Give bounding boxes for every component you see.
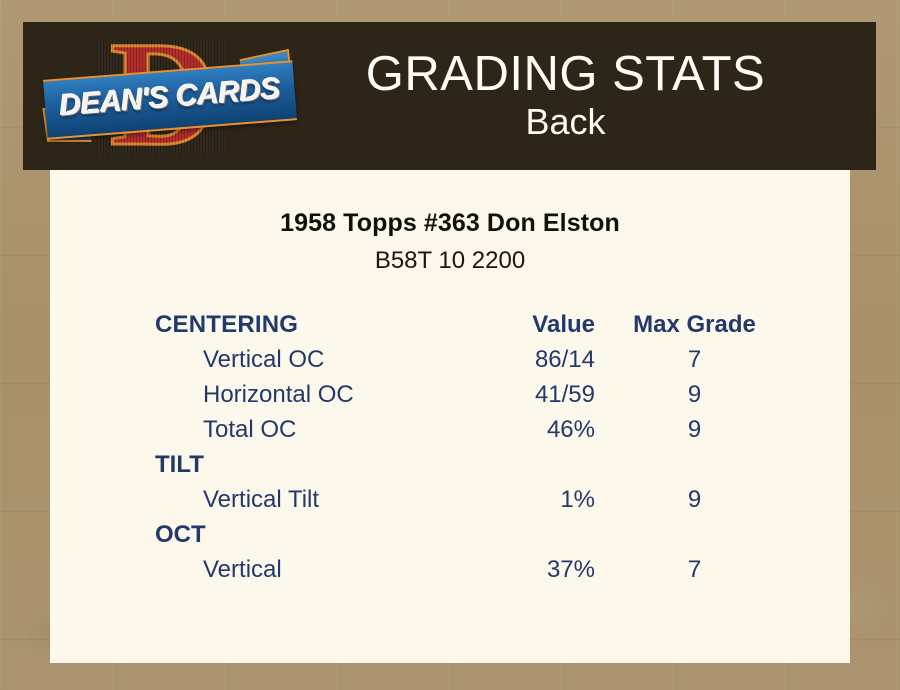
- page-root: D DEAN'S CARDS GRADING STATS Back 1958 T…: [0, 0, 900, 690]
- table-row: Horizontal OC41/599: [50, 377, 850, 412]
- page-subtitle: Back: [295, 101, 836, 143]
- table-section-row: OCT: [50, 517, 850, 552]
- table-row: Vertical Tilt1%9: [50, 482, 850, 517]
- row-label: Vertical Tilt: [50, 482, 405, 517]
- table-body: Vertical OC86/147Horizontal OC41/599Tota…: [50, 342, 850, 587]
- table-row: Vertical OC86/147: [50, 342, 850, 377]
- content-panel: 1958 Topps #363 Don Elston B58T 10 2200 …: [50, 170, 850, 663]
- section-label: TILT: [50, 447, 405, 482]
- row-value: 1%: [405, 482, 595, 517]
- column-header-value: Value: [405, 307, 595, 342]
- row-max-grade: 9: [595, 482, 850, 517]
- section-label: OCT: [50, 517, 405, 552]
- section-grade-spacer: [595, 517, 850, 552]
- row-label: Vertical: [50, 552, 405, 587]
- header-bar: D DEAN'S CARDS GRADING STATS Back: [23, 22, 876, 170]
- table-header-row: CENTERING Value Max Grade: [50, 307, 850, 342]
- row-max-grade: 7: [595, 552, 850, 587]
- row-value: 86/14: [405, 342, 595, 377]
- deans-cards-logo[interactable]: D DEAN'S CARDS: [45, 26, 295, 166]
- column-header-max-grade: Max Grade: [595, 307, 850, 342]
- row-max-grade: 9: [595, 412, 850, 447]
- section-value-spacer: [405, 447, 595, 482]
- page-title: GRADING STATS: [295, 49, 836, 101]
- row-max-grade: 7: [595, 342, 850, 377]
- row-label: Vertical OC: [50, 342, 405, 377]
- row-value: 41/59: [405, 377, 595, 412]
- row-value: 46%: [405, 412, 595, 447]
- header-title-group: GRADING STATS Back: [295, 49, 876, 143]
- section-grade-spacer: [595, 447, 850, 482]
- table-row: Total OC46%9: [50, 412, 850, 447]
- section-value-spacer: [405, 517, 595, 552]
- grading-stats-table: CENTERING Value Max Grade Vertical OC86/…: [50, 307, 850, 587]
- row-label: Horizontal OC: [50, 377, 405, 412]
- table-head: CENTERING Value Max Grade: [50, 307, 850, 342]
- table-section-row: TILT: [50, 447, 850, 482]
- card-title: 1958 Topps #363 Don Elston: [50, 209, 850, 238]
- row-value: 37%: [405, 552, 595, 587]
- table-row: Vertical37%7: [50, 552, 850, 587]
- card-subtitle: B58T 10 2200: [50, 247, 850, 275]
- logo-wordmark: DEAN'S CARDS: [43, 60, 297, 135]
- row-label: Total OC: [50, 412, 405, 447]
- column-header-section: CENTERING: [50, 307, 405, 342]
- row-max-grade: 9: [595, 377, 850, 412]
